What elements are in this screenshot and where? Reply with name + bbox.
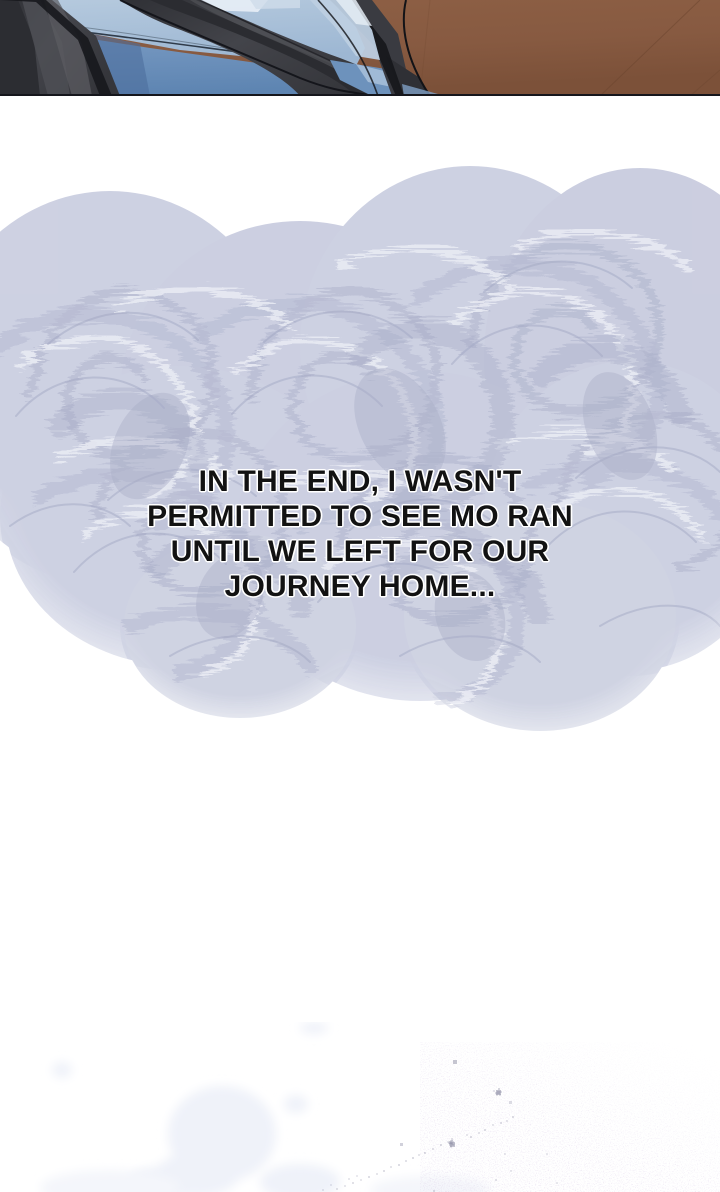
caption-line-2: PERMITTED TO SEE MO RAN bbox=[0, 499, 720, 534]
panel-main-caption: IN THE END, I WASN'T PERMITTED TO SEE MO… bbox=[0, 96, 720, 1192]
caption-line-1: IN THE END, I WASN'T bbox=[0, 464, 720, 499]
comic-page: IN THE END, I WASN'T PERMITTED TO SEE MO… bbox=[0, 0, 720, 1192]
scattered-specks bbox=[0, 1012, 720, 1192]
pale-blue-wisps bbox=[0, 1022, 720, 1192]
caption-line-3: UNTIL WE LEFT FOR OUR bbox=[0, 534, 720, 569]
panel-top-artwork bbox=[0, 0, 720, 96]
lavender-brush-swirl-cloud bbox=[0, 96, 720, 796]
purple-stipple-corner bbox=[420, 1042, 720, 1192]
panel-top-cropped-character bbox=[0, 0, 720, 96]
caption-line-4: JOURNEY HOME... bbox=[0, 569, 720, 604]
narration-caption: IN THE END, I WASN'T PERMITTED TO SEE MO… bbox=[0, 464, 720, 604]
